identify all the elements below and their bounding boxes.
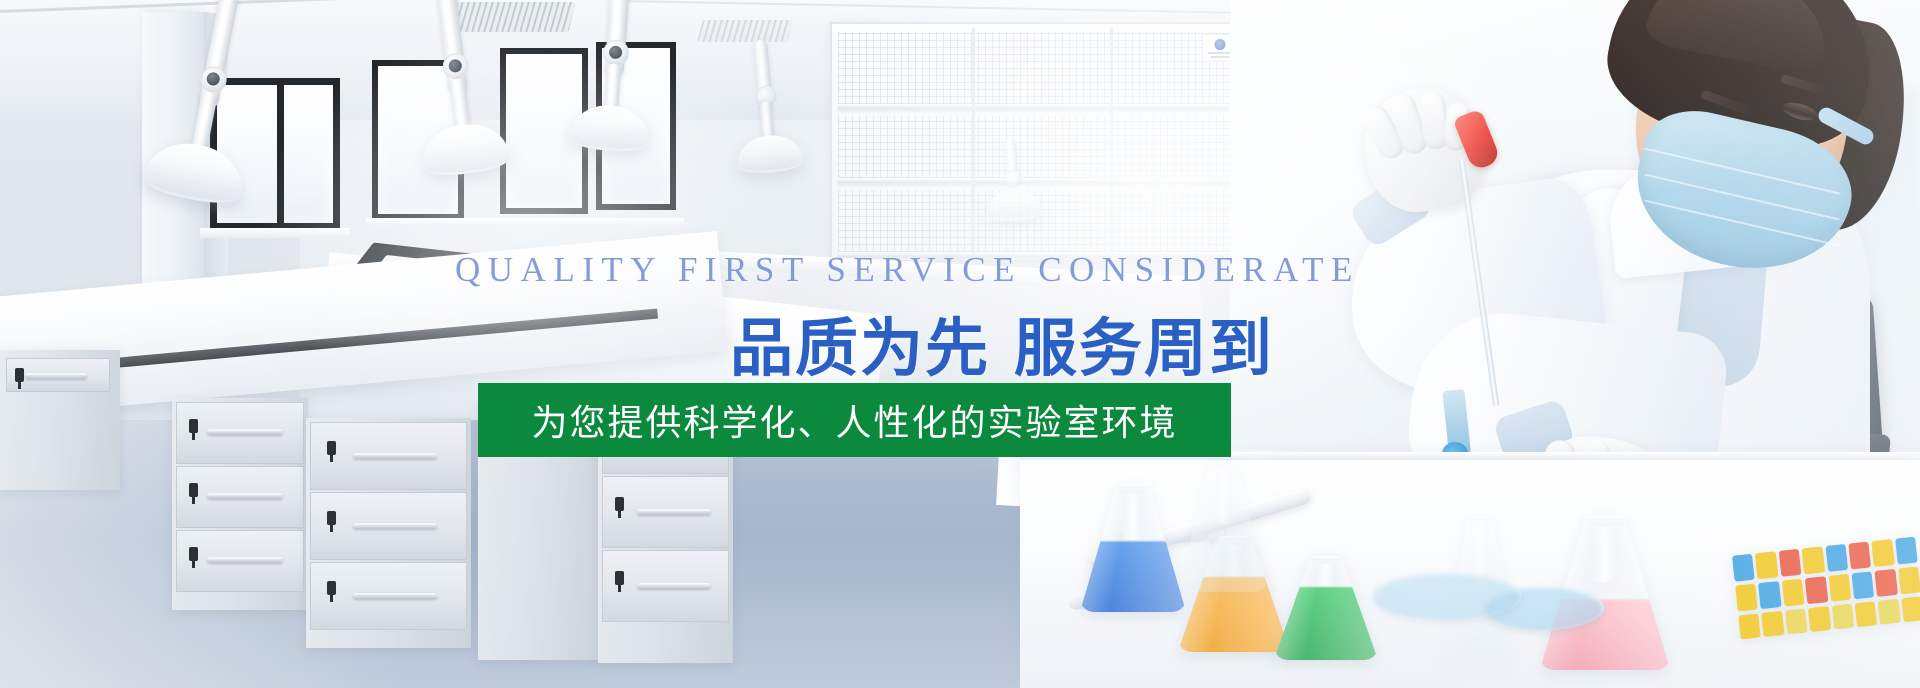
window-sill (366, 218, 684, 227)
drawer (310, 492, 467, 560)
flask-empty (1178, 466, 1268, 592)
drawer (176, 466, 304, 528)
drawer (310, 422, 467, 490)
window-sill (200, 228, 350, 238)
ceiling-vent-icon (448, 2, 575, 32)
drawer (602, 402, 729, 474)
ceiling-vent-secondary-icon (697, 20, 792, 42)
drawer (6, 358, 110, 392)
lab-hero-banner: QUALITY FIRST SERVICE CONSIDERATE 品质为先 服… (0, 0, 1920, 688)
drawer (176, 530, 304, 592)
lab-desk-edge (1020, 452, 1920, 460)
window (210, 78, 340, 230)
drawer (310, 562, 467, 630)
flask-green (1274, 560, 1378, 660)
cabinet (478, 400, 598, 660)
drawer (602, 550, 729, 622)
drawer (602, 476, 729, 548)
drawer (176, 402, 304, 464)
petri-dish (1372, 572, 1522, 620)
flask-blue (1080, 488, 1186, 612)
background-photo (0, 0, 1920, 688)
